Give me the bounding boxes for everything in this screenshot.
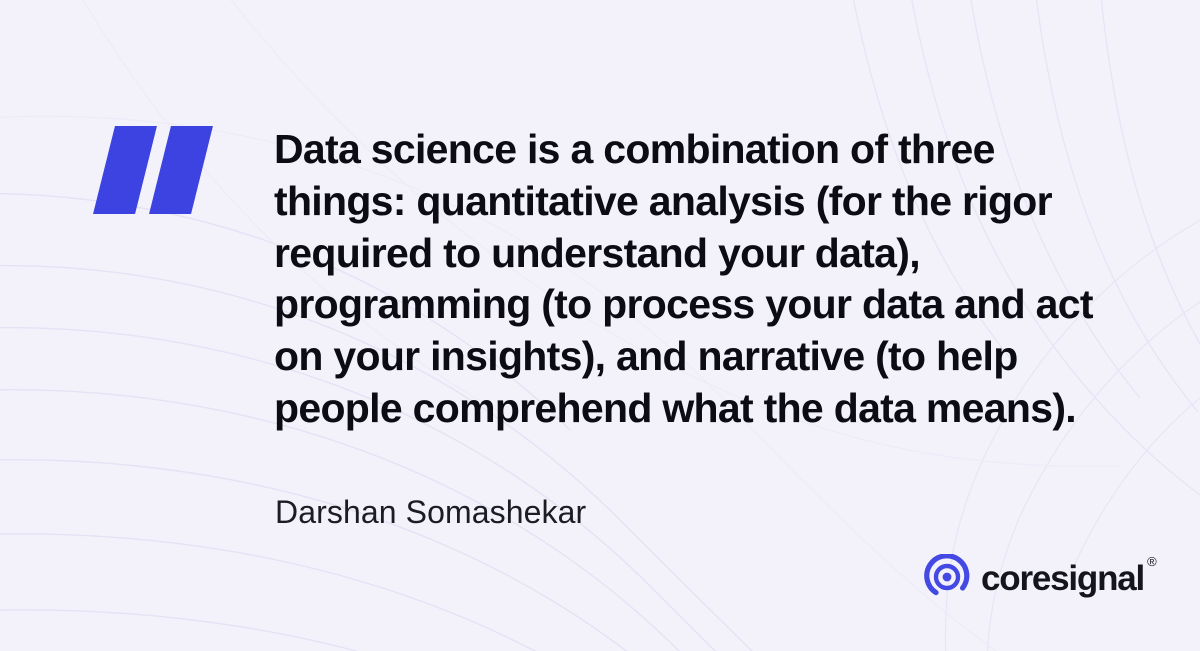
quote-card: Data science is a combination of three t…	[0, 0, 1200, 651]
coresignal-wordmark: coresignal	[981, 561, 1144, 596]
quote-bar-left	[93, 126, 157, 214]
quote-bar-right	[149, 126, 213, 214]
registered-trademark-icon: ®	[1147, 555, 1157, 568]
quote-text: Data science is a combination of three t…	[274, 124, 1134, 435]
double-slash-quote-icon	[96, 126, 222, 214]
quote-block: Data science is a combination of three t…	[274, 124, 1134, 435]
coresignal-logo: coresignal ®	[924, 552, 1157, 602]
quote-attribution: Darshan Somashekar	[275, 494, 586, 531]
coresignal-spiral-icon	[924, 554, 970, 600]
